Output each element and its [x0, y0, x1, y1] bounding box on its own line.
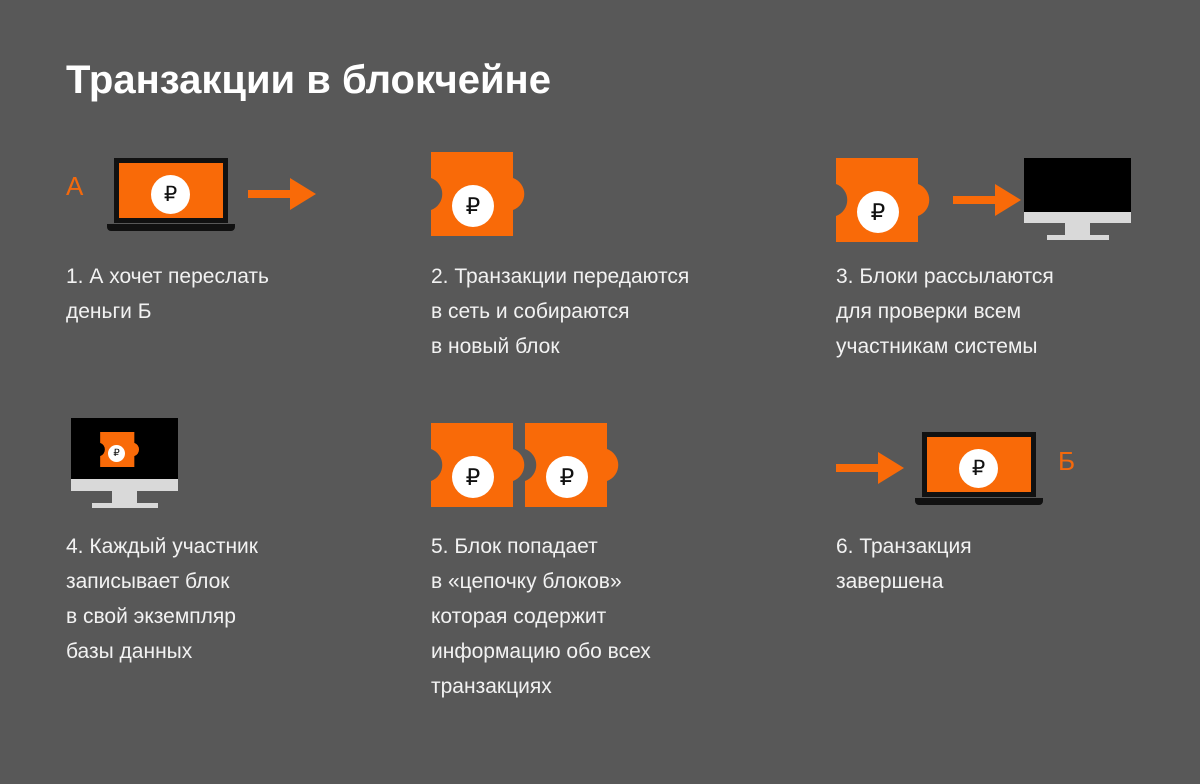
puzzle-block-with-ruble: ₽ — [836, 158, 936, 242]
laptop-base — [107, 224, 235, 231]
caption-line: базы данных — [66, 634, 426, 669]
sender-letter-a-label: А — [66, 173, 83, 199]
caption-line: информацию обо всех — [431, 634, 791, 669]
monitor-neck — [112, 491, 137, 503]
steps-row-2: ₽ 4. Каждый участник записывает блок в с… — [0, 410, 1200, 660]
step-2-visual: ₽ — [431, 140, 771, 235]
ruble-coin: ₽ — [151, 175, 190, 214]
desktop-monitor — [1024, 158, 1131, 240]
caption-line: 5. Блок попадает — [431, 529, 791, 564]
caption-line: в «цепочку блоков» — [431, 564, 791, 599]
step-6-visual: ₽ Б — [836, 410, 1176, 505]
monitor-screen — [1024, 158, 1131, 212]
ruble-coin: ₽ — [452, 185, 494, 227]
step-4: ₽ 4. Каждый участник записывает блок в с… — [66, 410, 426, 669]
ruble-symbol: ₽ — [164, 182, 177, 207]
laptop-base — [915, 498, 1043, 505]
arrow-right-icon — [953, 184, 1021, 216]
ruble-symbol: ₽ — [560, 464, 575, 491]
caption-line: 2. Транзакции передаются — [431, 259, 791, 294]
ruble-symbol: ₽ — [972, 456, 985, 481]
caption-line: 4. Каждый участник — [66, 529, 426, 564]
caption-line: участникам системы — [836, 329, 1196, 364]
ruble-symbol: ₽ — [466, 464, 481, 491]
ruble-coin: ₽ — [546, 456, 588, 498]
monitor-chin — [71, 479, 178, 491]
caption-line: транзакциях — [431, 669, 791, 704]
ruble-coin: ₽ — [452, 456, 494, 498]
caption-line: для проверки всем — [836, 294, 1196, 329]
step-5-visual: ₽ ₽ — [431, 410, 771, 505]
step-4-visual: ₽ — [66, 410, 406, 505]
step-6-caption: 6. Транзакция завершена — [836, 529, 1196, 599]
puzzle-block-with-ruble: ₽ — [99, 432, 143, 467]
laptop-screen: ₽ — [922, 432, 1036, 497]
step-1-visual: А ₽ — [66, 140, 406, 235]
monitor-neck — [1065, 223, 1090, 235]
receiver-letter-b-label: Б — [1058, 448, 1075, 474]
monitor-foot — [1047, 235, 1109, 240]
puzzle-block-with-ruble: ₽ — [525, 423, 625, 507]
monitor-foot — [92, 503, 158, 508]
caption-line: 6. Транзакция — [836, 529, 1196, 564]
step-4-caption: 4. Каждый участник записывает блок в сво… — [66, 529, 426, 669]
caption-line: 3. Блоки рассылаются — [836, 259, 1196, 294]
puzzle-block-with-ruble: ₽ — [431, 152, 531, 236]
step-5-caption: 5. Блок попадает в «цепочку блоков» кото… — [431, 529, 791, 704]
ruble-coin: ₽ — [857, 191, 899, 233]
caption-line: деньги Б — [66, 294, 426, 329]
arrow-right-icon — [836, 452, 904, 484]
caption-line: в новый блок — [431, 329, 791, 364]
step-2: ₽ 2. Транзакции передаются в сеть и соби… — [431, 140, 791, 364]
steps-row-1: А ₽ — [0, 140, 1200, 390]
caption-line: в свой экземпляр — [66, 599, 426, 634]
ruble-symbol: ₽ — [871, 199, 886, 226]
caption-line: в сеть и собираются — [431, 294, 791, 329]
step-6: ₽ Б 6. Транзакция завершена — [836, 410, 1196, 599]
steps-grid: А ₽ — [0, 140, 1200, 660]
caption-line: записывает блок — [66, 564, 426, 599]
caption-line: завершена — [836, 564, 1196, 599]
step-2-caption: 2. Транзакции передаются в сеть и собира… — [431, 259, 791, 364]
caption-line: 1. А хочет переслать — [66, 259, 426, 294]
monitor-chin — [1024, 212, 1131, 223]
arrow-right-icon — [248, 178, 316, 210]
puzzle-block-with-ruble: ₽ — [431, 423, 531, 507]
laptop-with-ruble: ₽ — [114, 158, 228, 231]
step-1-caption: 1. А хочет переслать деньги Б — [66, 259, 426, 329]
ruble-coin: ₽ — [108, 445, 125, 462]
step-3: ₽ 3. Бло — [836, 140, 1196, 364]
step-5: ₽ ₽ 5. Блок попадает в «цепочку б — [431, 410, 791, 704]
page-title: Транзакции в блокчейне — [66, 58, 551, 103]
ruble-coin: ₽ — [959, 449, 998, 488]
step-1: А ₽ — [66, 140, 426, 329]
step-3-caption: 3. Блоки рассылаются для проверки всем у… — [836, 259, 1196, 364]
monitor-screen: ₽ — [71, 418, 178, 479]
ruble-symbol: ₽ — [113, 448, 119, 459]
desktop-monitor-with-puzzle-block: ₽ — [71, 418, 178, 508]
laptop-screen: ₽ — [114, 158, 228, 223]
infographic-canvas: Транзакции в блокчейне А ₽ — [0, 0, 1200, 784]
laptop-with-ruble: ₽ — [922, 432, 1036, 505]
step-3-visual: ₽ — [836, 140, 1176, 235]
ruble-symbol: ₽ — [466, 193, 481, 220]
caption-line: которая содержит — [431, 599, 791, 634]
